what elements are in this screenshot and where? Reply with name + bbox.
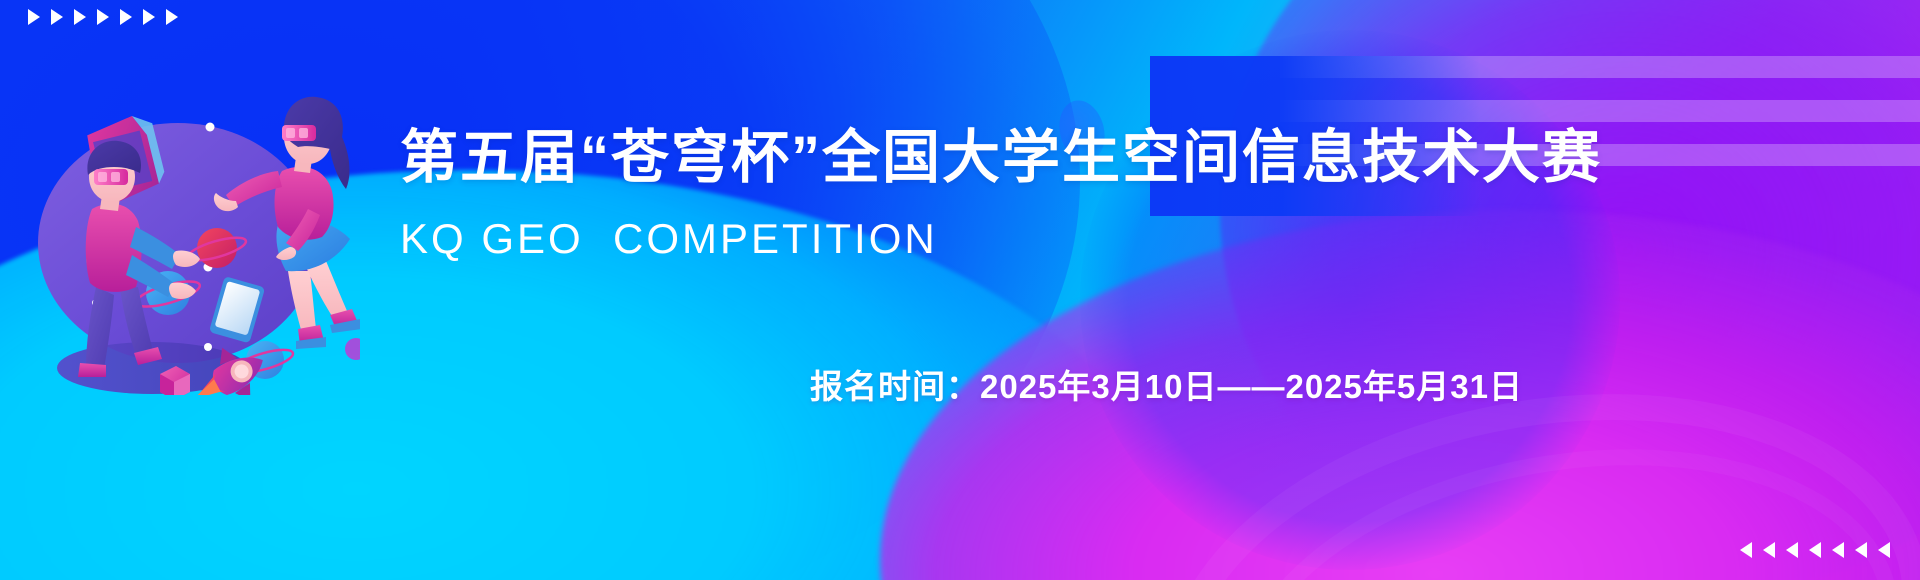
banner-text-block: 第五届“苍穹杯”全国大学生空间信息技术大赛 KQ GEO COMPETITION: [400, 128, 1820, 263]
triangle-right-icon: [28, 9, 40, 25]
stripe-1: [1280, 56, 1920, 78]
triangle-right-icon: [97, 9, 109, 25]
registration-period-text: 报名时间：2025年3月10日——2025年5月31日: [810, 360, 1523, 408]
triangle-right-icon: [143, 9, 155, 25]
arrow-group-bottom-right: [1740, 542, 1890, 558]
stripe-2: [1280, 100, 1920, 122]
banner-title-chinese: 第五届“苍穹杯”全国大学生空间信息技术大赛: [400, 128, 1820, 189]
vr-students-space-illustration: [20, 75, 360, 395]
triangle-right-icon: [120, 9, 132, 25]
banner-title-english: KQ GEO COMPETITION: [400, 215, 1820, 263]
triangle-left-icon: [1740, 542, 1752, 558]
triangle-left-icon: [1786, 542, 1798, 558]
triangle-left-icon: [1809, 542, 1821, 558]
arrow-group-top-left: [28, 9, 178, 25]
triangle-right-icon: [166, 9, 178, 25]
triangle-right-icon: [51, 9, 63, 25]
triangle-right-icon: [74, 9, 86, 25]
triangle-left-icon: [1832, 542, 1844, 558]
competition-banner: 第五届“苍穹杯”全国大学生空间信息技术大赛 KQ GEO COMPETITION…: [0, 0, 1920, 580]
triangle-left-icon: [1855, 542, 1867, 558]
triangle-left-icon: [1878, 542, 1890, 558]
triangle-left-icon: [1763, 542, 1775, 558]
